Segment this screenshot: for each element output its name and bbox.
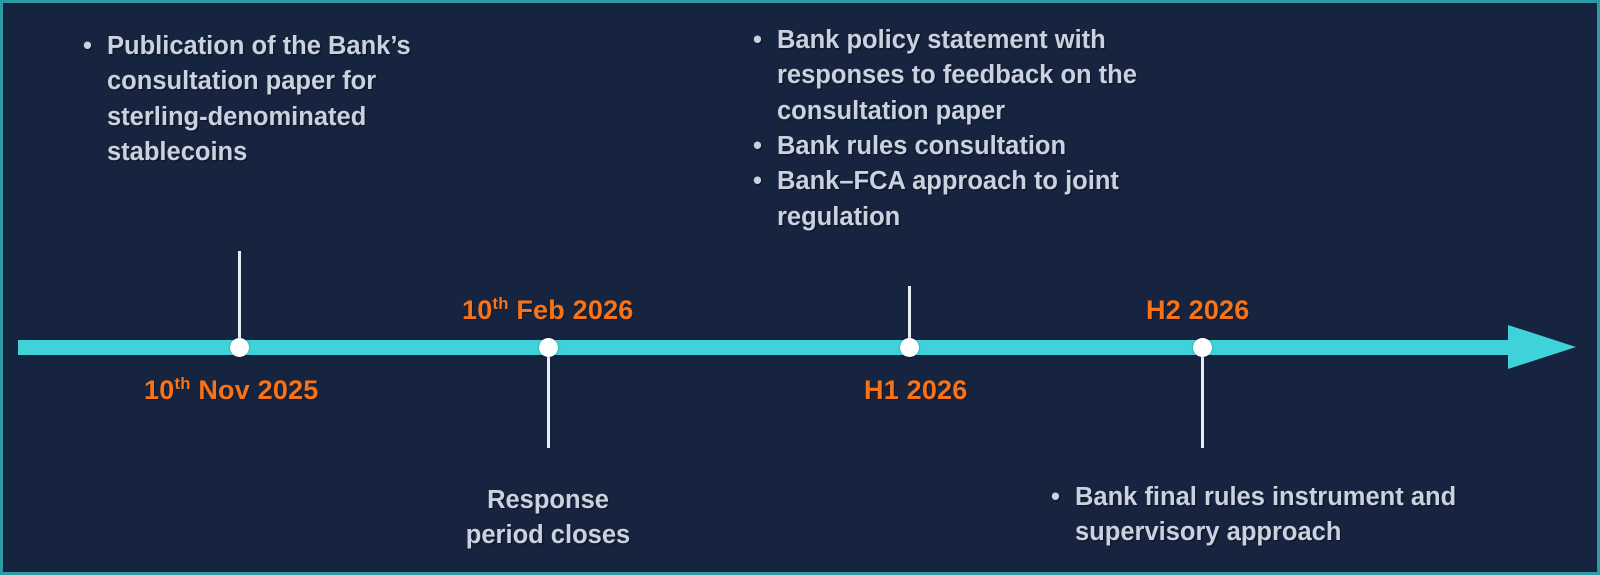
milestone-date-2: 10th Feb 2026 — [462, 295, 634, 326]
bullet-item: • Bank final rules instrument and superv… — [1037, 480, 1507, 551]
milestone-date-2-rest: Feb 2026 — [509, 295, 634, 325]
milestone-callout-4: • Bank final rules instrument and superv… — [1037, 480, 1507, 551]
bullet-text: Publication of the Bank’s consultation p… — [107, 29, 429, 170]
bullet-item: • Bank–FCA approach to joint regulation — [739, 164, 1209, 235]
milestone-callout-3: • Bank policy statement with responses t… — [739, 23, 1209, 235]
bullet-text: Bank rules consultation — [777, 129, 1209, 164]
timeline-slide: 10th Nov 2025 • Publication of the Bank’… — [0, 0, 1600, 575]
timeline-arrowhead-icon — [1508, 325, 1576, 369]
milestone-date-2-ordinal: th — [492, 294, 508, 313]
callout-line: Response — [403, 483, 693, 518]
bullet-dot-icon: • — [739, 164, 777, 199]
milestone-date-1-day: 10 — [144, 375, 174, 405]
bullet-item: • Publication of the Bank’s consultation… — [69, 29, 429, 170]
milestone-dot-4[interactable] — [1193, 338, 1212, 357]
milestone-callout-1: • Publication of the Bank’s consultation… — [69, 29, 429, 170]
milestone-date-2-day: 10 — [462, 295, 492, 325]
milestone-date-1-rest: Nov 2025 — [191, 375, 319, 405]
bullet-item: • Bank policy statement with responses t… — [739, 23, 1209, 129]
milestone-date-4-label: H2 2026 — [1146, 295, 1249, 325]
milestone-date-3: H1 2026 — [864, 375, 967, 406]
milestone-stem-2 — [547, 350, 550, 448]
milestone-dot-1[interactable] — [230, 338, 249, 357]
callout-line: period closes — [403, 518, 693, 553]
bullet-dot-icon: • — [1037, 480, 1075, 515]
bullet-text: Bank–FCA approach to joint regulation — [777, 164, 1209, 235]
bullet-dot-icon: • — [739, 129, 777, 164]
milestone-date-1-ordinal: th — [174, 374, 190, 393]
bullet-text: Bank final rules instrument and supervis… — [1075, 480, 1507, 551]
milestone-date-1: 10th Nov 2025 — [144, 375, 319, 406]
bullet-dot-icon: • — [69, 29, 107, 64]
milestone-date-3-label: H1 2026 — [864, 375, 967, 405]
bullet-text: Bank policy statement with responses to … — [777, 23, 1209, 129]
bullet-item: • Bank rules consultation — [739, 129, 1209, 164]
bullet-dot-icon: • — [739, 23, 777, 58]
milestone-callout-2: Response period closes — [403, 483, 693, 554]
milestone-dot-2[interactable] — [539, 338, 558, 357]
milestone-stem-1 — [238, 251, 241, 347]
milestone-dot-3[interactable] — [900, 338, 919, 357]
milestone-stem-4 — [1201, 350, 1204, 448]
milestone-date-4: H2 2026 — [1146, 295, 1249, 326]
